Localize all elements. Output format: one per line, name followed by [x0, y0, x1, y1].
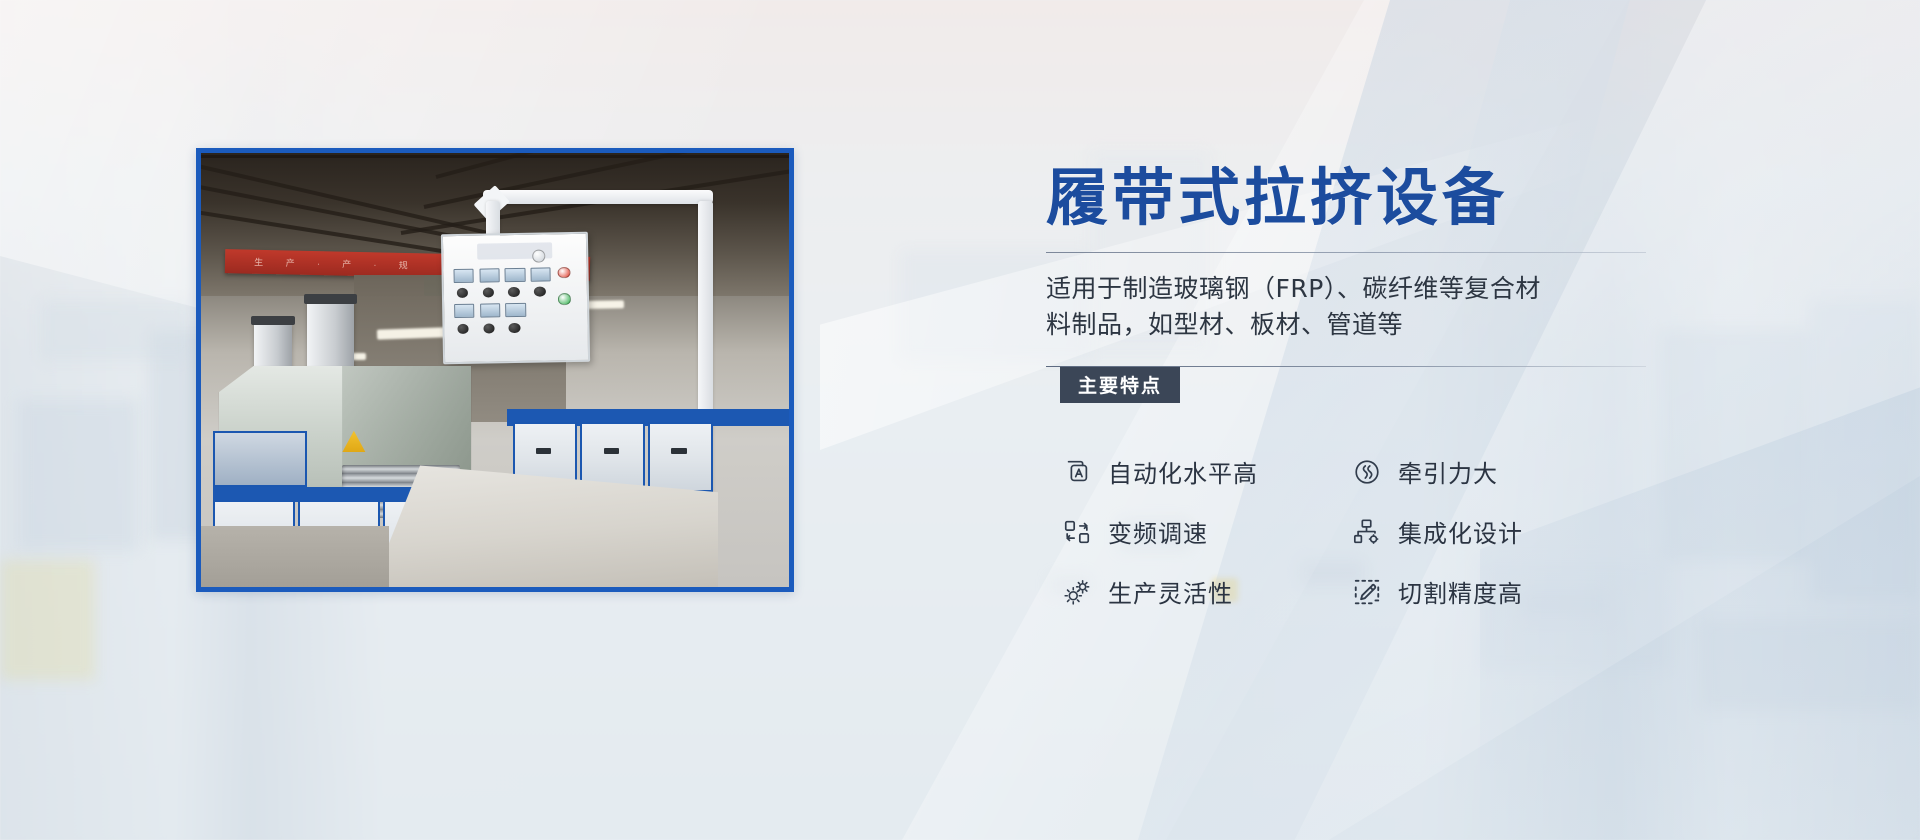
panel-knob: [483, 324, 495, 334]
backdrop-ghost-shape: [1660, 330, 1810, 560]
backdrop-ghost-shape: [1810, 300, 1920, 600]
cylinder-cap: [251, 316, 295, 326]
roof-truss: [201, 155, 789, 158]
panel-knob: [457, 288, 469, 298]
feature-label: 集成化设计: [1398, 514, 1523, 549]
cylinder-cap: [304, 294, 357, 304]
gears-icon: [1062, 577, 1092, 607]
cabinet-handle: [671, 448, 686, 454]
backdrop-ghost-shape: [40, 300, 190, 360]
panel-knob: [482, 287, 494, 297]
panel-indicator-red: [558, 267, 571, 279]
control-panel: [441, 232, 590, 365]
product-photo: [201, 153, 789, 587]
panel-meter: [506, 303, 526, 317]
feature-label: 变频调速: [1108, 514, 1208, 549]
traction-waves-icon: [1352, 457, 1382, 487]
features-heading-row: 主要特点: [1046, 366, 1666, 406]
page-title-wrap: 履带式拉挤设备: [1046, 150, 1666, 246]
frequency-shift-icon: [1062, 517, 1092, 547]
feature-label: 自动化水平高: [1108, 454, 1258, 489]
panel-knob: [534, 286, 546, 296]
product-description: 适用于制造玻璃钢（FRP）、碳纤维等复合材 料制品，如型材、板材、管道等: [1046, 271, 1646, 344]
cabinet-handle: [536, 448, 551, 454]
backdrop-ghost-shape: [0, 560, 95, 680]
panel-knob: [508, 287, 520, 297]
feature-item-frequency[interactable]: 变频调速: [1046, 514, 1336, 549]
factory-floor: [201, 526, 389, 587]
feature-item-integrated[interactable]: 集成化设计: [1336, 514, 1626, 549]
feature-list: 自动化水平高 牵引力大: [1046, 442, 1666, 622]
divider-top: [1046, 252, 1646, 253]
precision-cut-icon: [1352, 577, 1382, 607]
description-line-2: 料制品，如型材、板材、管道等: [1046, 310, 1403, 339]
feature-label: 切割精度高: [1398, 574, 1523, 609]
panel-meter: [531, 267, 551, 281]
cabinet-handle: [604, 448, 619, 454]
feature-label: 牵引力大: [1398, 454, 1498, 489]
description-line-1: 适用于制造玻璃钢（FRP）、碳纤维等复合材: [1046, 274, 1541, 303]
backdrop-ghost-shape: [1700, 620, 1920, 710]
panel-indicator-green: [558, 294, 571, 306]
hero-content: 履带式拉挤设备 适用于制造玻璃钢（FRP）、碳纤维等复合材 料制品，如型材、板材…: [1046, 150, 1666, 622]
panel-gauge: [532, 250, 545, 263]
panel-meter: [454, 304, 474, 318]
page-title: 履带式拉挤设备: [1046, 167, 1508, 229]
machine-side-window: [213, 431, 307, 487]
panel-knob: [509, 324, 521, 334]
product-hero-banner: 履带式拉挤设备 适用于制造玻璃钢（FRP）、碳纤维等复合材 料制品，如型材、板材…: [0, 0, 1920, 840]
feature-item-precision[interactable]: 切割精度高: [1336, 574, 1626, 609]
integrated-design-icon: [1352, 517, 1382, 547]
product-photo-card: [196, 148, 794, 592]
automation-card-icon: [1062, 457, 1092, 487]
panel-meter: [479, 268, 499, 282]
equipment-cabinet: [648, 422, 713, 491]
feature-item-automation[interactable]: 自动化水平高: [1046, 454, 1336, 489]
panel-knob: [457, 324, 469, 334]
panel-meter: [505, 268, 525, 282]
backdrop-ghost-shape: [18, 400, 138, 550]
feature-label: 生产灵活性: [1108, 574, 1233, 609]
status-badge: 主要特点: [1060, 367, 1180, 403]
panel-meter: [480, 304, 500, 318]
feature-item-traction[interactable]: 牵引力大: [1336, 454, 1626, 489]
gantry-top-rail: [483, 190, 712, 204]
panel-meter: [454, 269, 474, 283]
feature-item-flexibility[interactable]: 生产灵活性: [1046, 574, 1336, 609]
